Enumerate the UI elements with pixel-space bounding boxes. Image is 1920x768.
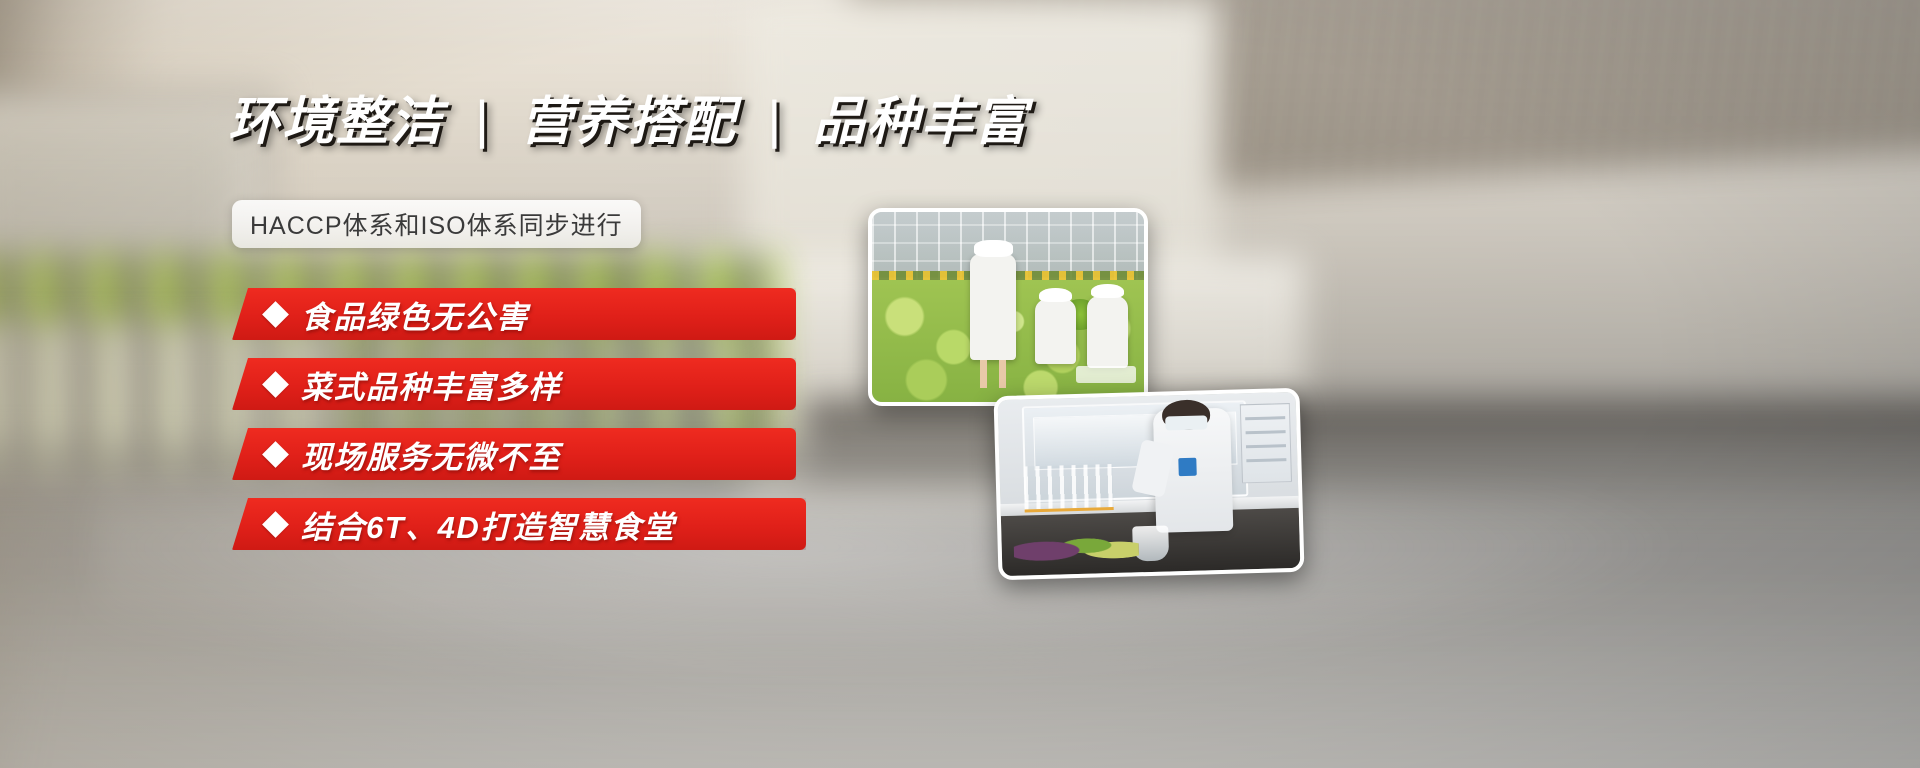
worker-cap	[974, 240, 1014, 257]
banner-content: 环境整洁 | 营养搭配 | 品种丰富 HACCP体系和ISO体系同步进行 食品绿…	[0, 0, 1920, 768]
greenhouse-worker-crouching-2	[1087, 296, 1128, 368]
lab-vegetable-samples	[1013, 523, 1139, 569]
headline-separator-2: |	[753, 94, 797, 146]
photo-greenhouse	[868, 208, 1148, 406]
feature-bar-2[interactable]: 菜式品种丰富多样	[232, 358, 796, 410]
lab-id-badge	[1178, 458, 1196, 476]
feature-bar-4[interactable]: 结合6T、4D打造智慧食堂	[232, 498, 806, 550]
promo-banner: 环境整洁 | 营养搭配 | 品种丰富 HACCP体系和ISO体系同步进行 食品绿…	[0, 0, 1920, 768]
lab-test-tube-rack	[1023, 464, 1114, 512]
worker-cap	[1091, 284, 1124, 298]
feature-bar-list: 食品绿色无公害 菜式品种丰富多样 现场服务无微不至 结合6T、4D打造智慧食堂	[0, 288, 574, 568]
subtitle-badge: HACCP体系和ISO体系同步进行	[232, 200, 641, 248]
worker-leg-right	[999, 360, 1006, 388]
headline-part-2: 营养搭配	[520, 93, 736, 151]
diamond-bullet-icon	[262, 301, 289, 328]
subtitle-text: HACCP体系和ISO体系同步进行	[250, 206, 623, 242]
diamond-bullet-icon	[262, 371, 289, 398]
photo-laboratory-content	[998, 392, 1301, 576]
feature-bar-3[interactable]: 现场服务无微不至	[232, 428, 796, 480]
diamond-bullet-icon	[262, 511, 289, 538]
feature-bar-3-label: 现场服务无微不至	[301, 432, 587, 477]
diamond-bullet-icon	[262, 441, 289, 468]
greenhouse-worker-standing	[970, 254, 1016, 360]
feature-bar-1[interactable]: 食品绿色无公害	[232, 288, 796, 340]
worker-leg-left	[980, 360, 987, 388]
headline-part-1: 环境整洁	[228, 93, 444, 151]
page-title: 环境整洁 | 营养搭配 | 品种丰富	[228, 96, 1029, 148]
face-mask-icon	[1165, 415, 1207, 430]
greenhouse-watermark	[1076, 366, 1136, 383]
photo-laboratory	[993, 388, 1304, 580]
photo-greenhouse-content	[872, 212, 1144, 402]
greenhouse-worker-crouching-1	[1035, 299, 1076, 364]
lab-wall-poster	[1240, 403, 1292, 484]
feature-bar-1-label: 食品绿色无公害	[301, 292, 555, 337]
worker-cap	[1039, 288, 1072, 302]
feature-bar-2-label: 菜式品种丰富多样	[301, 362, 587, 407]
headline-separator-1: |	[460, 94, 504, 146]
feature-bar-4-label: 结合6T、4D打造智慧食堂	[301, 502, 701, 547]
headline-part-3: 品种丰富	[813, 93, 1029, 151]
